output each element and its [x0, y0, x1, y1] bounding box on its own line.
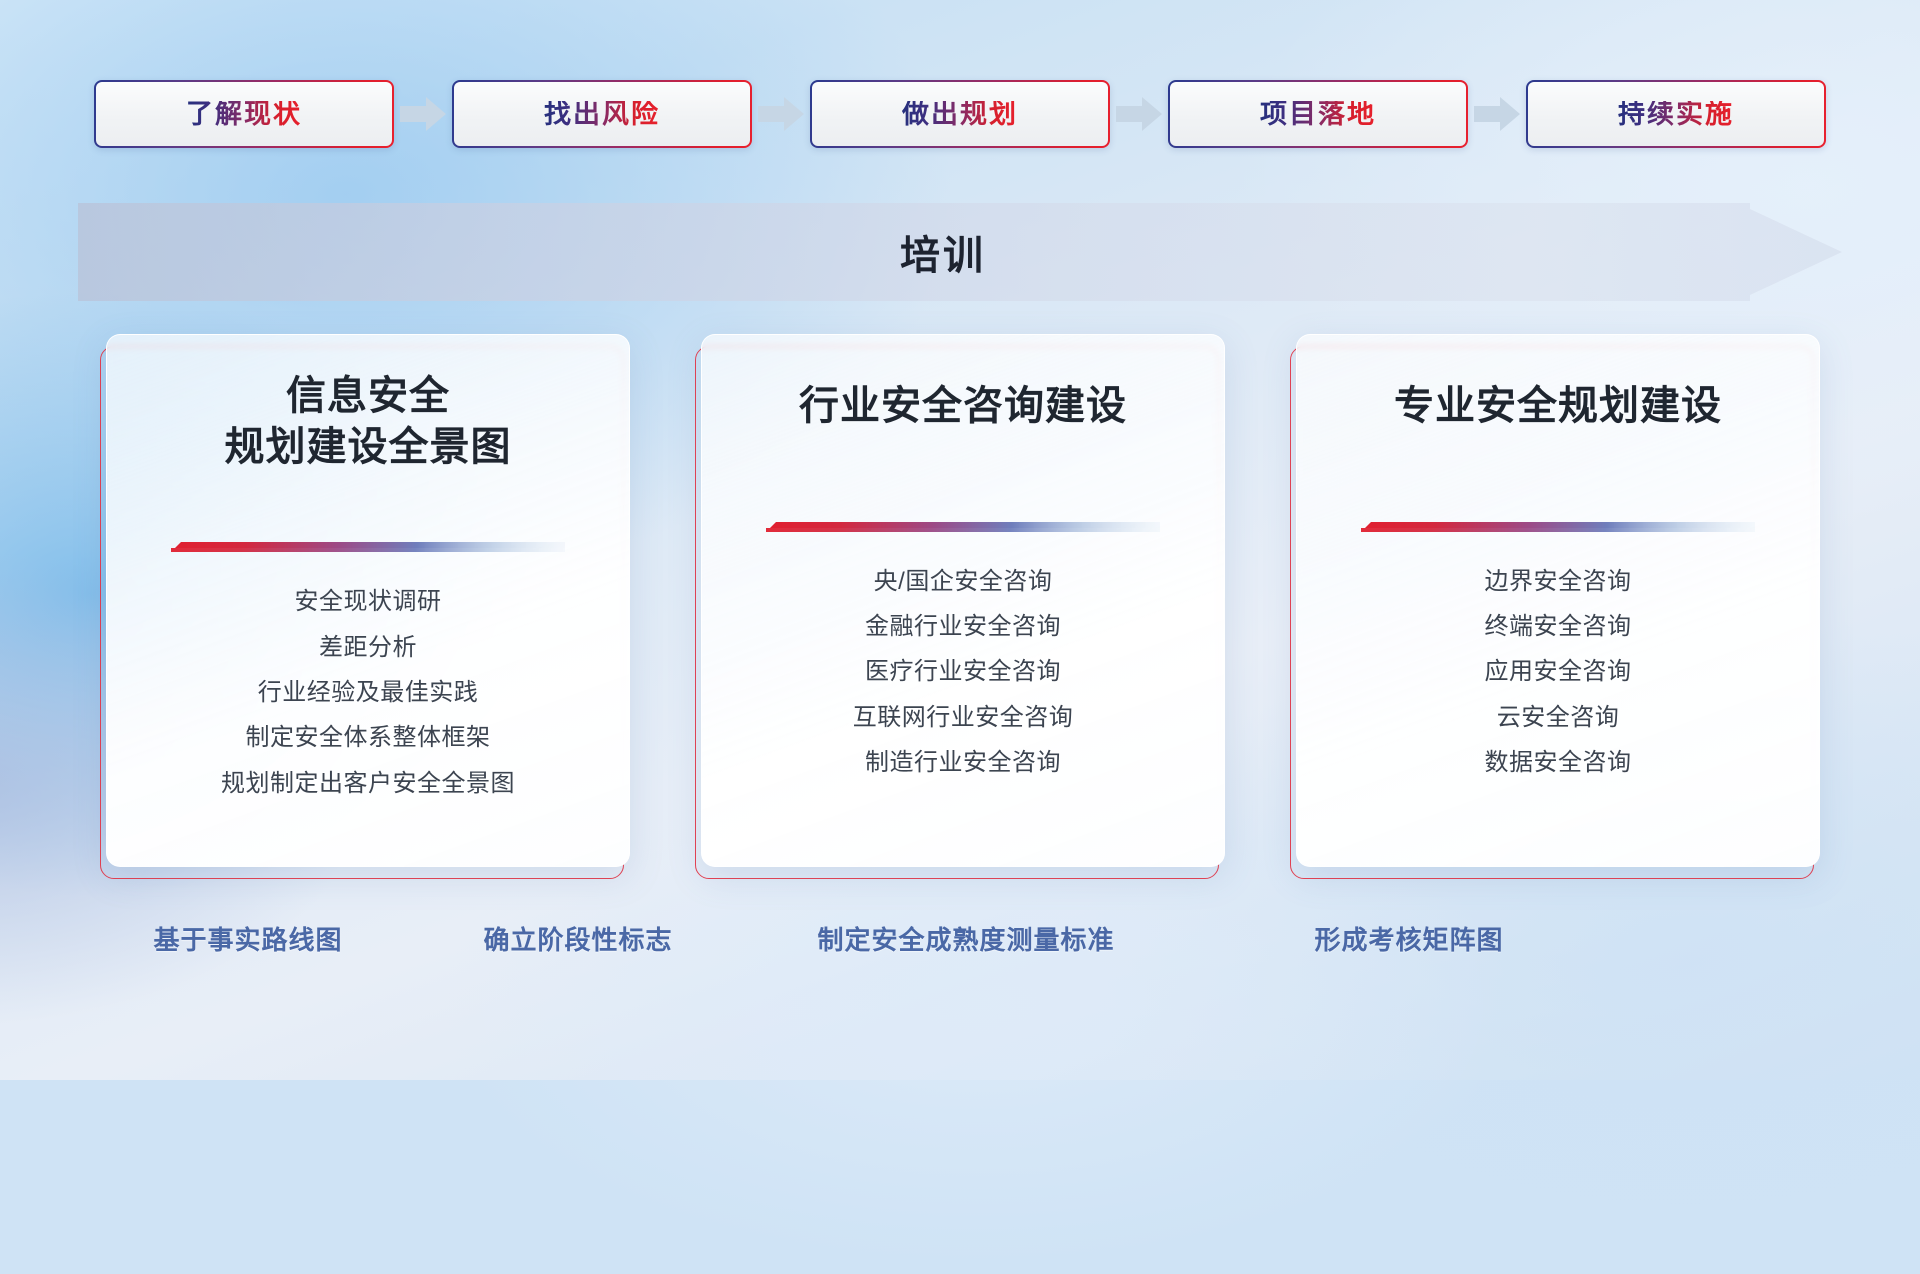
service-card-1-title-line1: 信息安全: [225, 371, 512, 422]
service-card-3-title: 专业安全规划建设: [1380, 381, 1736, 432]
list-item: 央/国企安全咨询: [874, 569, 1053, 595]
service-card-2[interactable]: 行业安全咨询建设: [701, 334, 1225, 867]
service-card-2-divider-holder: [702, 522, 1224, 535]
step-chip-1-inner: 了解现状: [96, 82, 392, 146]
step-chip-4-label: 项目落地: [1260, 101, 1376, 128]
footnote-4: 形成考核矩阵图: [1314, 920, 1503, 957]
service-card-2-divider: [766, 522, 1160, 535]
service-card-3-divider: [1361, 522, 1755, 535]
list-item: 云安全咨询: [1497, 705, 1620, 731]
service-card-1-divider: [171, 542, 565, 555]
step-chip-2-label: 找出风险: [544, 101, 660, 128]
service-card-2-title: 行业安全咨询建设: [785, 381, 1141, 432]
service-card-1[interactable]: 信息安全 规划建设全景图: [106, 334, 630, 867]
step-chip-4[interactable]: 项目落地: [1168, 80, 1468, 148]
list-item: 制定安全体系整体框架: [246, 725, 491, 751]
list-item: 金融行业安全咨询: [865, 614, 1061, 640]
step-chip-3[interactable]: 做出规划: [810, 80, 1110, 148]
service-card-3[interactable]: 专业安全规划建设: [1296, 334, 1820, 867]
step-arrow-icon-1: [394, 80, 452, 148]
step-arrow-icon-3: [1110, 80, 1168, 148]
step-chip-1-label: 了解现状: [186, 101, 302, 128]
service-card-1-title: 信息安全 规划建设全景图: [211, 371, 526, 473]
list-item: 行业经验及最佳实践: [258, 680, 479, 706]
footnote-1: 基于事实路线图: [153, 920, 342, 957]
list-item: 制造行业安全咨询: [865, 750, 1061, 776]
service-card-1-title-line2: 规划建设全景图: [225, 422, 512, 473]
step-arrow-icon-2: [752, 80, 810, 148]
service-card-3-list: 边界安全咨询 终端安全咨询 应用安全咨询 云安全咨询 数据安全咨询: [1297, 569, 1819, 777]
footnote-row: 基于事实路线图 确立阶段性标志 制定安全成熟度测量标准 形成考核矩阵图: [0, 920, 1920, 970]
list-item: 医疗行业安全咨询: [865, 659, 1061, 685]
step-chip-4-inner: 项目落地: [1170, 82, 1466, 146]
process-step-flow: 了解现状 找出风险 做出规划 项目落地: [0, 78, 1920, 150]
service-card-3-title-line1: 专业安全规划建设: [1394, 381, 1722, 432]
service-card-2-title-line1: 行业安全咨询建设: [799, 381, 1127, 432]
list-item: 互联网行业安全咨询: [853, 705, 1074, 731]
training-banner-label-wrap: 培训: [78, 203, 1808, 301]
step-chip-2[interactable]: 找出风险: [452, 80, 752, 148]
service-card-1-divider-holder: [107, 542, 629, 555]
list-item: 数据安全咨询: [1485, 750, 1632, 776]
list-item: 差距分析: [319, 635, 417, 661]
service-card-group: 信息安全 规划建设全景图: [0, 334, 1920, 894]
service-card-3-wrapper: 专业安全规划建设: [1290, 334, 1820, 879]
list-item: 边界安全咨询: [1485, 569, 1632, 595]
step-chip-5-label: 持续实施: [1618, 101, 1734, 128]
service-card-1-wrapper: 信息安全 规划建设全景图: [100, 334, 630, 879]
step-chip-2-inner: 找出风险: [454, 82, 750, 146]
service-card-3-divider-holder: [1297, 522, 1819, 535]
training-banner: 培训: [78, 203, 1842, 301]
step-chip-3-label: 做出规划: [902, 101, 1018, 128]
footnote-3: 制定安全成熟度测量标准: [817, 920, 1114, 957]
training-banner-label: 培训: [900, 223, 986, 281]
step-chip-5-inner: 持续实施: [1528, 82, 1824, 146]
step-chip-1[interactable]: 了解现状: [94, 80, 394, 148]
step-chip-5[interactable]: 持续实施: [1526, 80, 1826, 148]
step-chip-3-inner: 做出规划: [812, 82, 1108, 146]
service-card-1-list: 安全现状调研 差距分析 行业经验及最佳实践 制定安全体系整体框架 规划制定出客户…: [107, 589, 629, 797]
service-card-2-wrapper: 行业安全咨询建设: [695, 334, 1225, 879]
step-arrow-icon-4: [1468, 80, 1526, 148]
list-item: 终端安全咨询: [1485, 614, 1632, 640]
list-item: 规划制定出客户安全全景图: [221, 771, 515, 797]
service-card-2-list: 央/国企安全咨询 金融行业安全咨询 医疗行业安全咨询 互联网行业安全咨询 制造行…: [702, 569, 1224, 777]
list-item: 安全现状调研: [295, 589, 442, 615]
list-item: 应用安全咨询: [1485, 659, 1632, 685]
footnote-2: 确立阶段性标志: [483, 920, 672, 957]
